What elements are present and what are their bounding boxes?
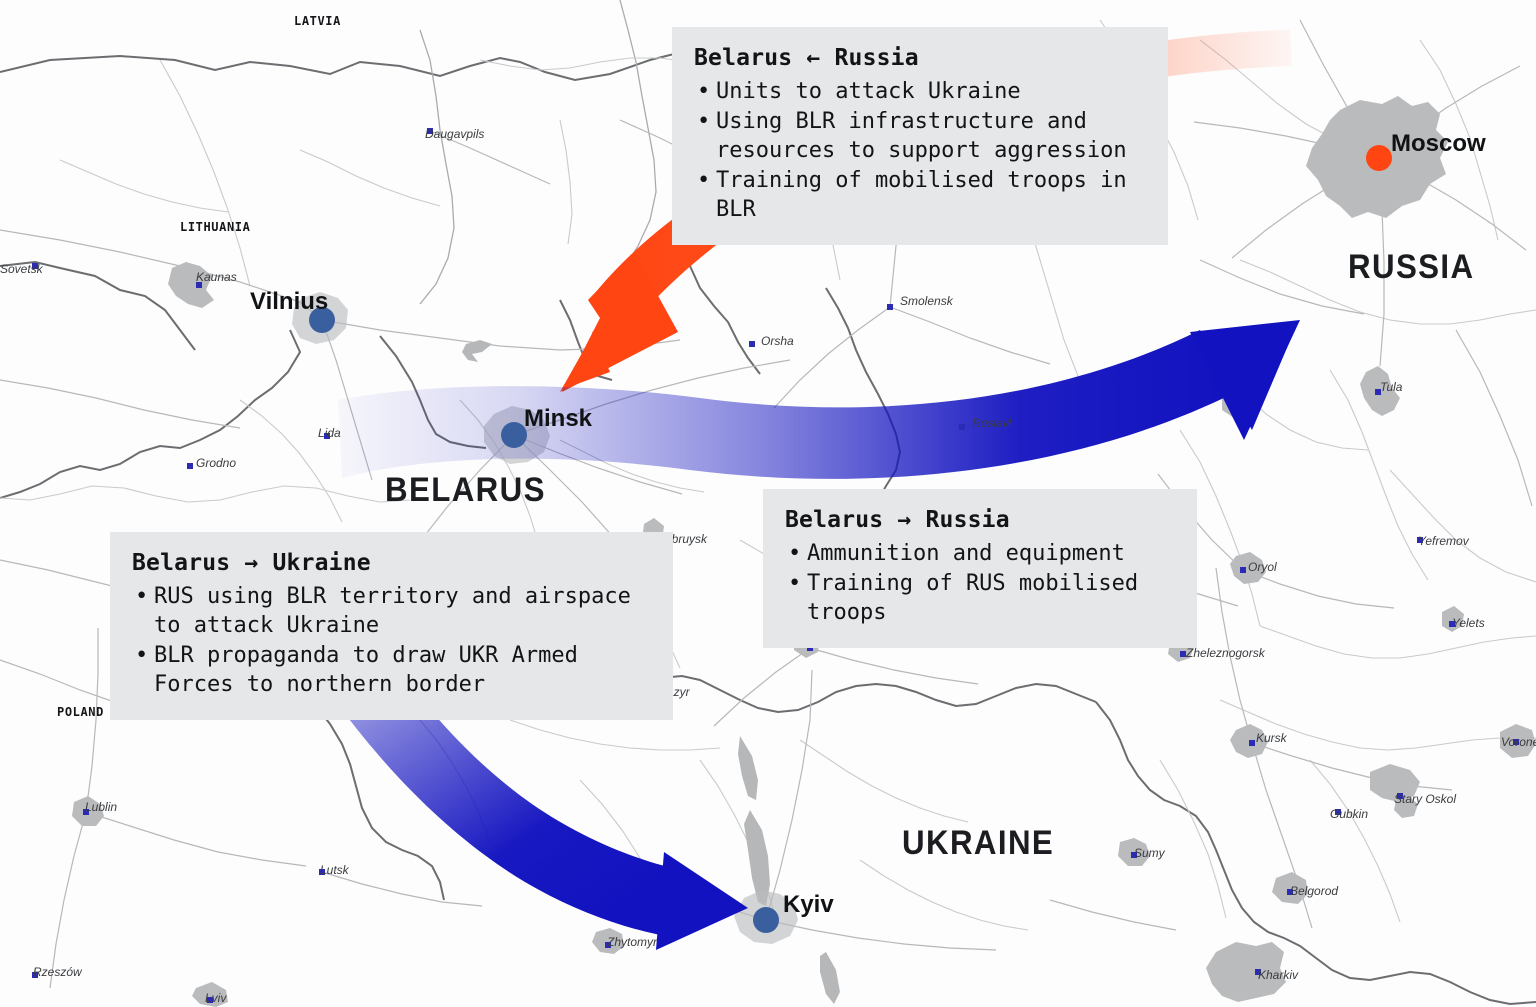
city-marker-tula [1375,389,1381,395]
city-marker-lida [324,433,330,439]
callout-bullet: BLR propaganda to draw UKR Armed Forces … [132,641,651,699]
city-marker-orsha [749,341,755,347]
city-marker-zhytomyr [605,942,611,948]
callout-belarus-to-russia: Belarus → Russia Ammunition and equipmen… [763,489,1197,648]
callout-belarus-to-ukraine: Belarus → Ukraine RUS using BLR territor… [110,532,673,720]
city-marker-stary-oskol [1397,793,1403,799]
city-marker-oryol [1240,567,1246,573]
city-marker-belgorod [1287,889,1293,895]
callout-title: Belarus → Ukraine [132,550,651,576]
city-marker-kharkiv [1255,969,1261,975]
city-marker-kaunas [196,282,202,288]
callout-bullet: Units to attack Ukraine [694,77,1146,106]
city-marker-yelets [1449,621,1455,627]
callout-belarus-from-russia: Belarus ← Russia Units to attack Ukraine… [672,27,1168,245]
city-marker-grodno [187,463,193,469]
city-marker-lutsk [319,869,325,875]
city-marker-sumy [1131,852,1137,858]
callout-bullet: Training of RUS mobilised troops [785,569,1175,627]
city-marker-yefremov [1417,537,1423,543]
city-marker-zheleznogorsk [1180,651,1186,657]
callout-bullet: RUS using BLR territory and airspace to … [132,582,651,640]
callout-bullet-list: Ammunition and equipmentTraining of RUS … [785,539,1175,627]
city-marker-sovetsk [32,263,38,269]
city-marker-lublin [83,809,89,815]
map-infographic: .bdr-int { fill:none; stroke:#c9cacc; st… [0,0,1536,1007]
callout-bullet: Training of mobilised troops in BLR [694,166,1146,224]
callout-bullet-list: Units to attack UkraineUsing BLR infrast… [694,77,1146,224]
city-marker-kursk [1249,740,1255,746]
city-marker-voronezh [1513,739,1519,745]
city-marker-gubkin [1335,809,1341,815]
city-marker-lviv [207,997,213,1003]
callout-bullet: Ammunition and equipment [785,539,1175,568]
callout-title: Belarus ← Russia [694,45,1146,71]
city-marker-minsk [501,422,527,448]
city-marker-rzeszów [32,972,38,978]
city-marker-moscow [1366,145,1392,171]
city-marker-kyiv [753,907,779,933]
callout-title: Belarus → Russia [785,507,1175,533]
callout-bullet: Using BLR infrastructure and resources t… [694,107,1146,165]
city-marker-smolensk [887,304,893,310]
city-marker-roslavl [959,424,965,430]
callout-bullet-list: RUS using BLR territory and airspace to … [132,582,651,699]
city-marker-daugavpils [427,128,433,134]
city-marker-vilnius [309,307,335,333]
